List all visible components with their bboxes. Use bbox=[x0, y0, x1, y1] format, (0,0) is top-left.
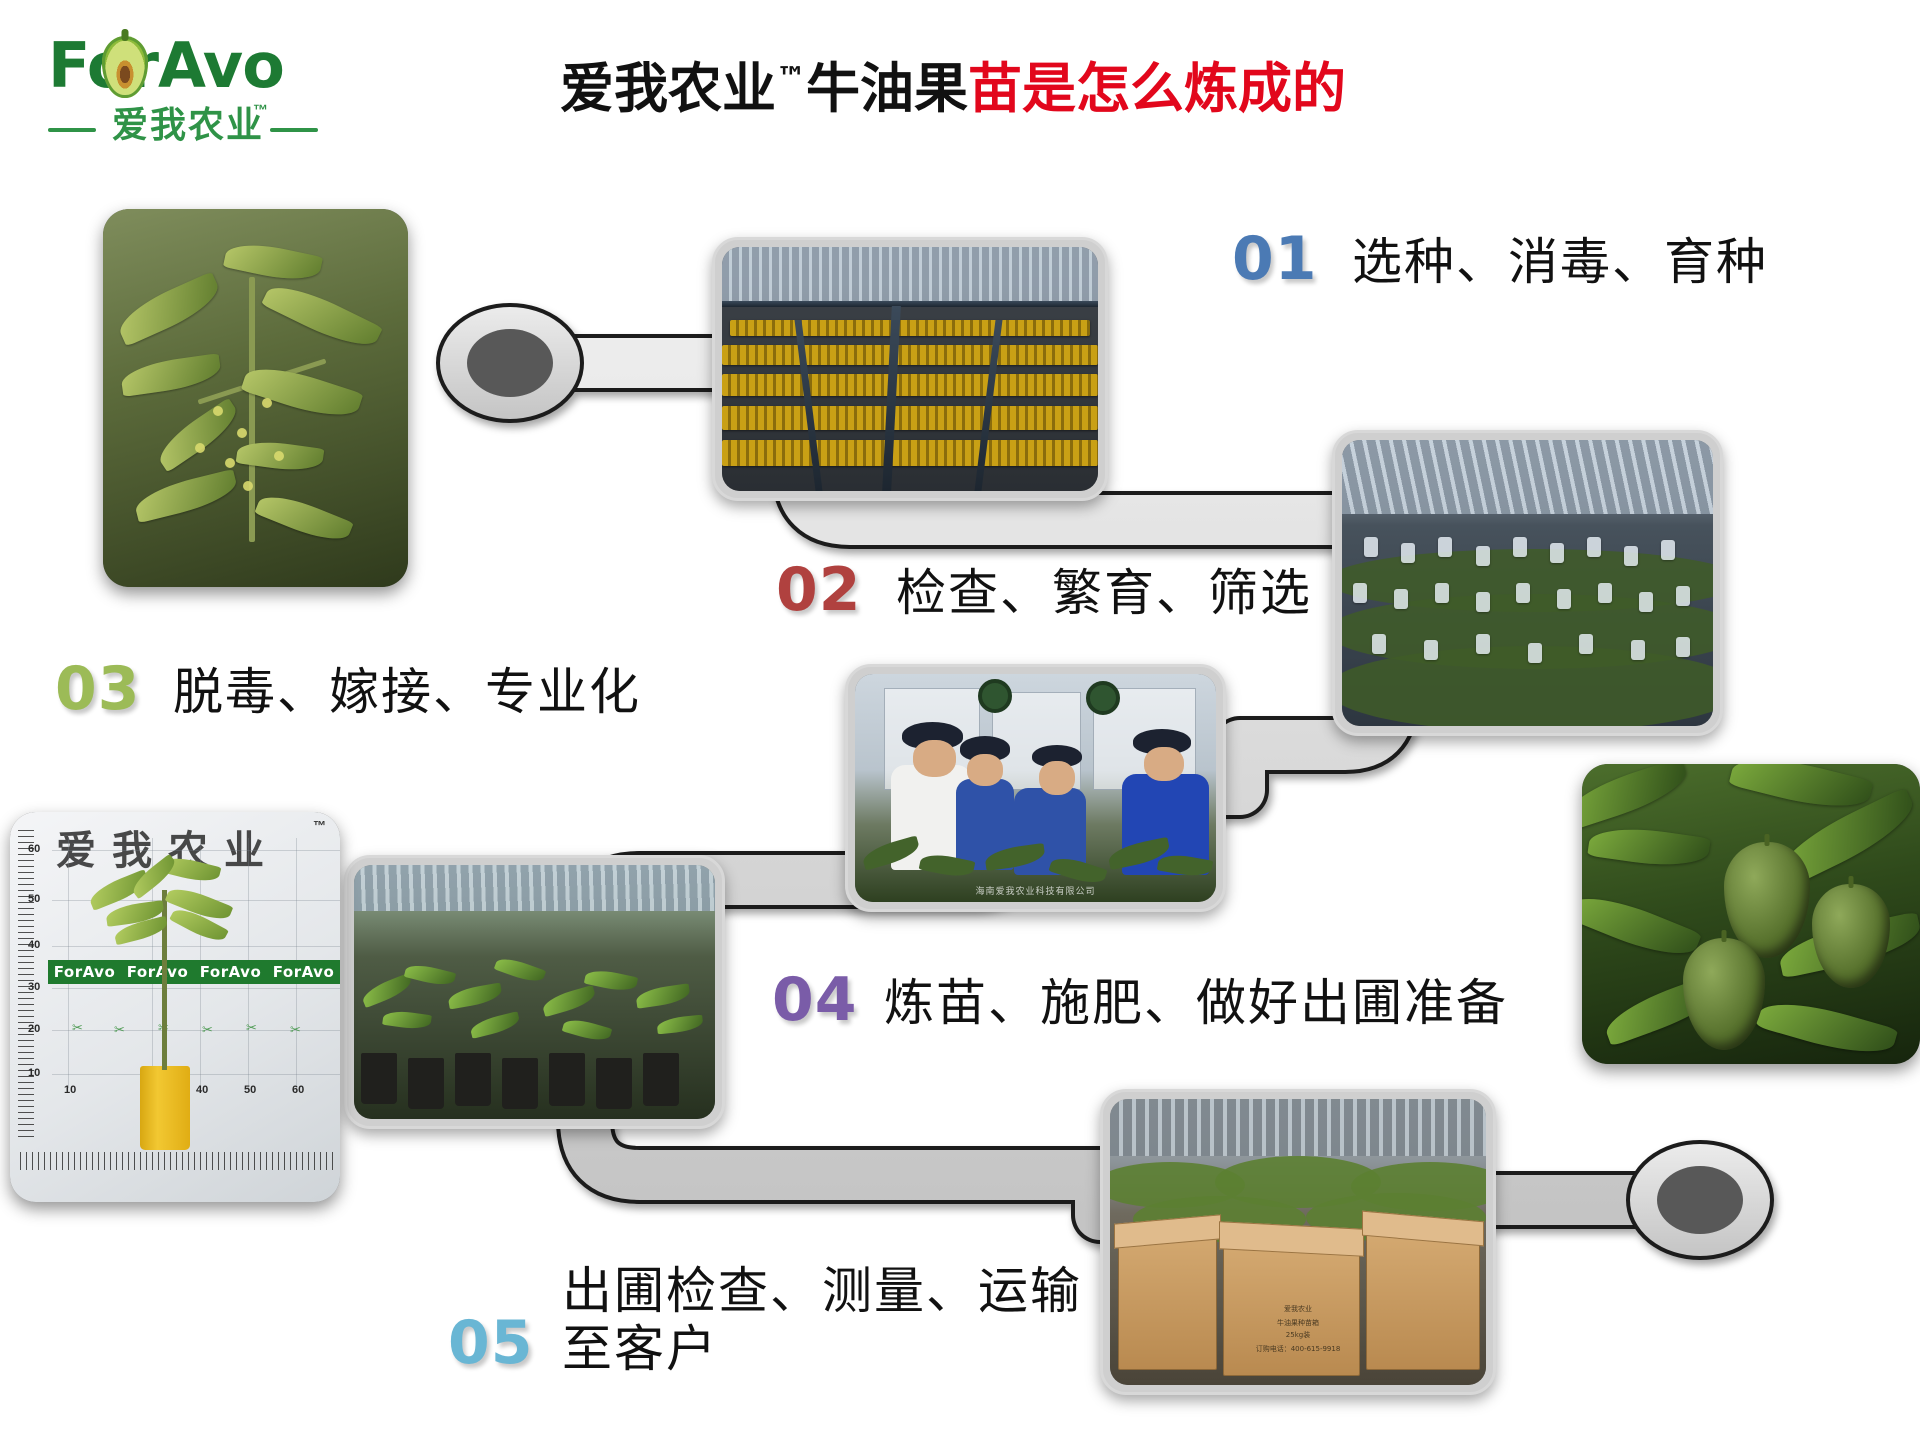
ruler-x-tick: 40 bbox=[196, 1084, 208, 1096]
logo-trademark-icon: ™ bbox=[253, 102, 268, 119]
title-trademark-icon: ™ bbox=[776, 61, 806, 96]
step-number-04: 04 bbox=[772, 965, 858, 1035]
band-brand: ForAvo bbox=[273, 963, 335, 981]
staff-inspection-photo: 海南爱我农业科技有限公司 bbox=[845, 664, 1226, 912]
flow-end-knob bbox=[1657, 1166, 1743, 1234]
logo-wordmark-text: ForAvo bbox=[48, 30, 284, 102]
band-brand: ForAvo bbox=[54, 963, 116, 981]
box-phone-text: 订购电话：400-615-9918 bbox=[1110, 1345, 1486, 1354]
ruler-y-tick: 60 bbox=[28, 843, 40, 855]
step-label-05: 05 出圃检查、测量、运输至客户 bbox=[448, 1262, 1082, 1378]
step-label-01: 01 选种、消毒、育种 bbox=[1232, 222, 1768, 294]
page-title-highlight: 苗是怎么炼成的 bbox=[968, 57, 1346, 120]
grafted-rows-greenhouse-photo bbox=[1332, 430, 1723, 736]
step-number-03: 03 bbox=[55, 654, 141, 724]
ruler-x-tick: 60 bbox=[292, 1084, 304, 1096]
flow-start-knob bbox=[467, 329, 553, 397]
step-text-04: 炼苗、施肥、做好出圃准备 bbox=[884, 974, 1508, 1032]
step-text-05: 出圃检查、测量、运输至客户 bbox=[562, 1262, 1082, 1378]
box-line3-text: 25kg装 bbox=[1110, 1331, 1486, 1340]
ruler-y-tick: 50 bbox=[28, 893, 40, 905]
band-brand: ForAvo bbox=[200, 963, 262, 981]
box-brand-text: 爱我农业 bbox=[1110, 1305, 1486, 1314]
page-title: 爱我农业™牛油果苗是怎么炼成的 bbox=[560, 48, 1560, 120]
ruler-y-tick: 40 bbox=[28, 939, 40, 951]
ruler-backdrop-tm: ™ bbox=[313, 818, 326, 833]
page-title-black: 爱我农业 bbox=[560, 57, 776, 120]
potted-seedlings-photo bbox=[344, 855, 725, 1129]
logo-rule-left bbox=[48, 128, 96, 132]
seed-trays-greenhouse-photo bbox=[712, 237, 1108, 501]
logo-subline: 爱我农业 ™ bbox=[48, 104, 338, 148]
logo-rule-right bbox=[270, 128, 318, 132]
ruler-y-tick: 20 bbox=[28, 1023, 40, 1035]
packed-boxes-shipping-photo: 爱我农业 牛油果种苗箱 25kg装 订购电话：400-615-9918 bbox=[1100, 1089, 1496, 1395]
step-text-05-line1: 出圃检查、测量、运输 bbox=[562, 1262, 1082, 1320]
infographic-canvas: ForAvo 爱我农业 ™ 爱我农业™牛油果苗是怎么炼成的 bbox=[0, 0, 1920, 1440]
step-number-02: 02 bbox=[776, 555, 862, 625]
ruler-x-tick: 10 bbox=[64, 1084, 76, 1096]
page-title-mid: 牛油果 bbox=[806, 57, 968, 120]
step-number-01: 01 bbox=[1232, 224, 1318, 294]
photo-watermark: 海南爱我农业科技有限公司 bbox=[975, 884, 1095, 897]
band-brand: ForAvo bbox=[127, 963, 189, 981]
step-text-05-line2: 至客户 bbox=[562, 1320, 718, 1378]
step-text-01: 选种、消毒、育种 bbox=[1352, 233, 1768, 291]
ruler-brand-band: ForAvo ForAvo ForAvo ForAvo bbox=[48, 960, 340, 984]
avocado-fruit-on-tree-photo bbox=[1582, 764, 1920, 1064]
ruler-x-tick: 50 bbox=[244, 1084, 256, 1096]
measured-seedling-photo: 爱我农业 ™ 60 50 40 30 20 10 bbox=[10, 812, 340, 1202]
step-label-03: 03 脱毒、嫁接、专业化 bbox=[55, 652, 641, 724]
logo-chinese-name: 爱我农业 bbox=[112, 104, 264, 148]
step-number-05: 05 bbox=[448, 1262, 534, 1378]
box-line2-text: 牛油果种苗箱 bbox=[1110, 1319, 1486, 1328]
logo-wordmark: ForAvo bbox=[48, 30, 338, 102]
brand-logo: ForAvo 爱我农业 ™ bbox=[48, 30, 338, 150]
avocado-flowering-branch-photo bbox=[103, 209, 408, 587]
step-text-02: 检查、繁育、筛选 bbox=[896, 564, 1312, 622]
step-label-04: 04 炼苗、施肥、做好出圃准备 bbox=[772, 963, 1508, 1035]
ruler-y-tick: 30 bbox=[28, 981, 40, 993]
ruler-y-tick: 10 bbox=[28, 1067, 40, 1079]
step-label-02: 02 检查、繁育、筛选 bbox=[776, 553, 1312, 625]
step-text-03: 脱毒、嫁接、专业化 bbox=[173, 663, 641, 721]
